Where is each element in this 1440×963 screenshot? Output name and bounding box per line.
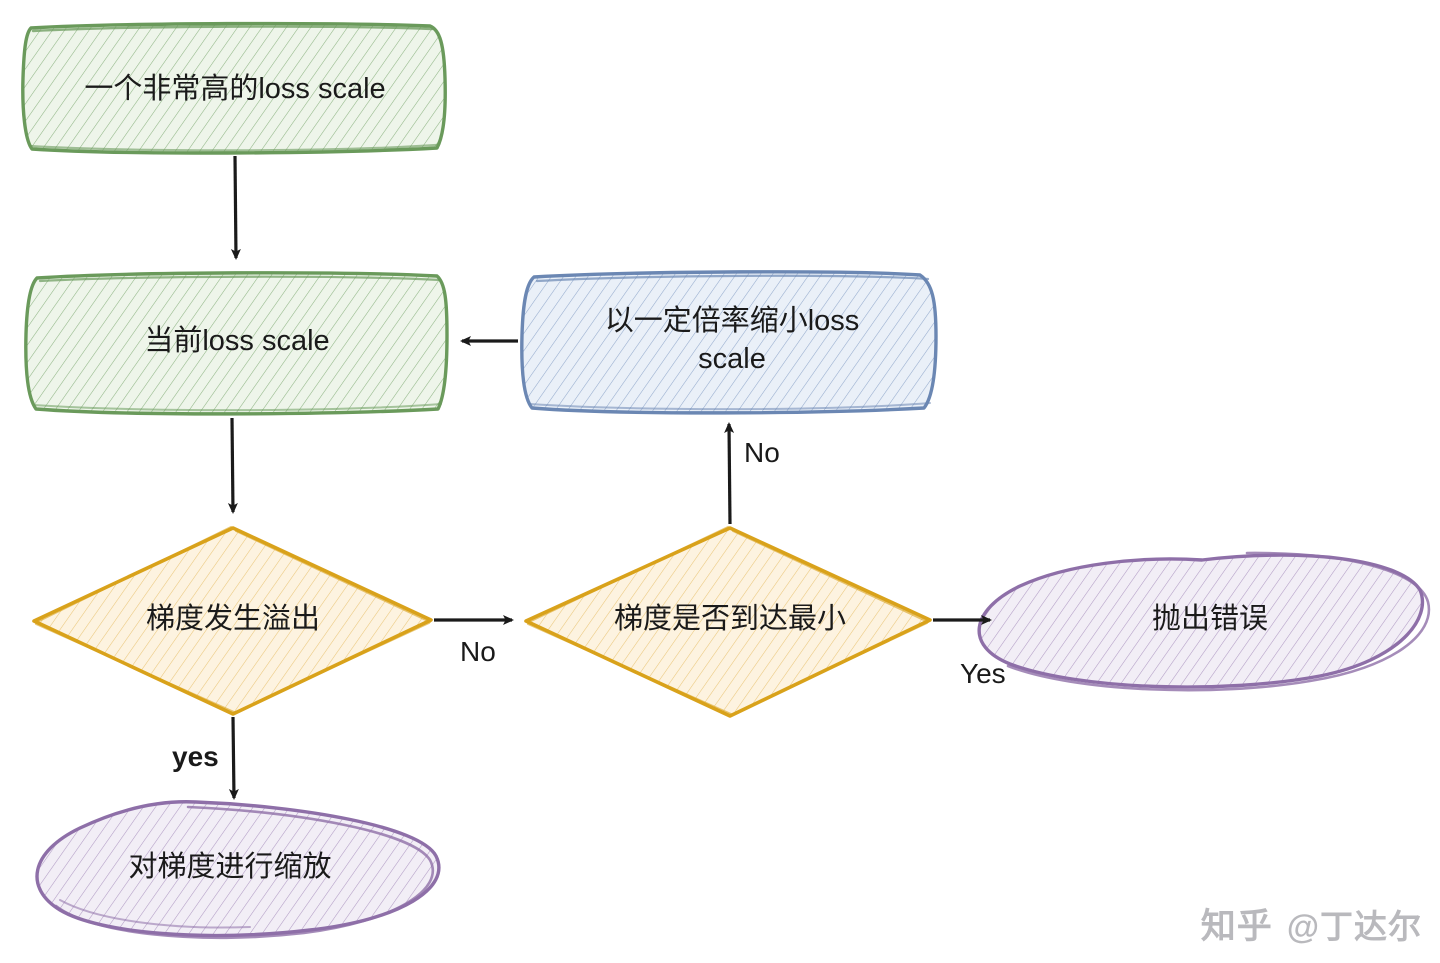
node-shrink-loss-scale xyxy=(522,272,936,413)
watermark-handle: @丁达尔 xyxy=(1287,900,1422,948)
node-high-loss-scale xyxy=(23,24,445,153)
node-current-loss-scale xyxy=(26,273,447,414)
node-gradient-overflow-decision xyxy=(34,527,431,714)
node-gradient-min-decision xyxy=(526,527,930,716)
edge-n2-to-n4 xyxy=(232,418,233,512)
flowchart-svg xyxy=(0,0,1440,963)
edge-n4-to-n7 xyxy=(233,717,234,798)
zhihu-logo: 知乎 xyxy=(1201,898,1273,949)
edge-n1-to-n2 xyxy=(235,156,236,258)
node-scale-gradient xyxy=(37,802,439,938)
edge-label-no-middle: No xyxy=(460,636,496,668)
edge-label-no-up: No xyxy=(744,437,780,469)
flowchart-canvas: 一个非常高的loss scale 当前loss scale 以一定倍率缩小los… xyxy=(0,0,1440,963)
node-throw-error xyxy=(979,553,1429,690)
edge-label-yes-down: yes xyxy=(172,741,219,773)
edge-label-yes-right: Yes xyxy=(960,658,1006,690)
edge-n5-to-n3 xyxy=(729,424,730,524)
watermark: 知乎 @丁达尔 xyxy=(1201,898,1422,949)
